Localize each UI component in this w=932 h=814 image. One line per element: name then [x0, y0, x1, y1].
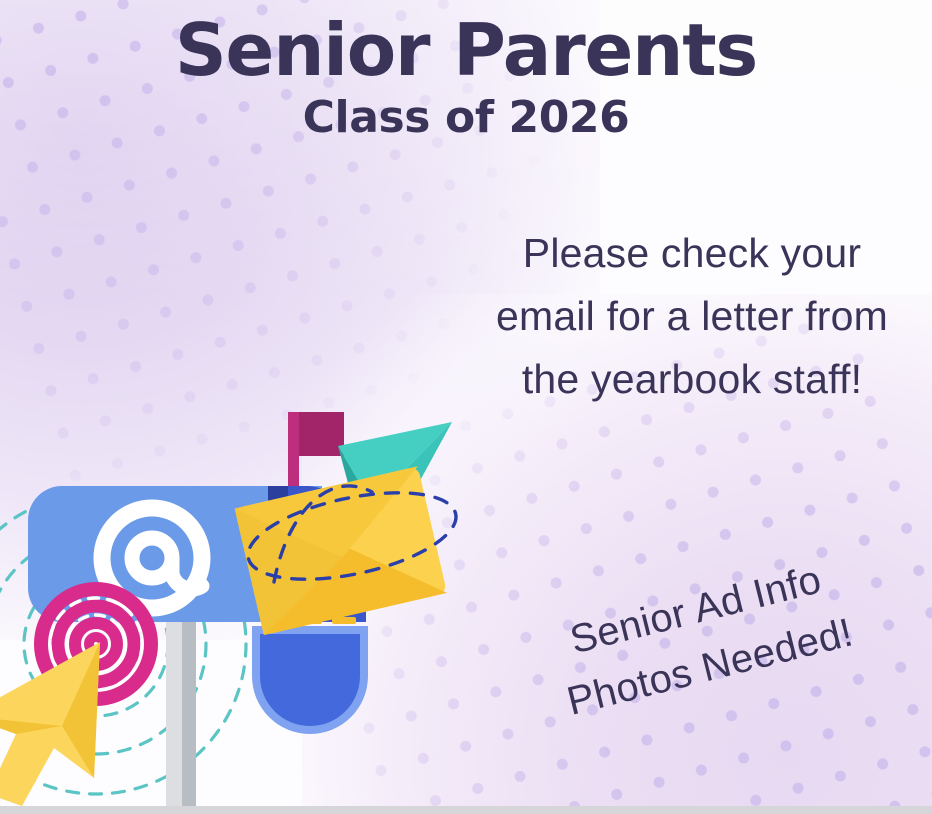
headline-block: Senior Parents Class of 2026 [0, 14, 932, 140]
page-title: Senior Parents [0, 14, 932, 86]
bottom-strip [0, 806, 932, 814]
mailbox-illustration [0, 386, 480, 806]
poster-canvas: Senior Parents Class of 2026 Please chec… [0, 0, 932, 814]
mailbox-post-icon [166, 618, 196, 806]
body-message: Please check your email for a letter fro… [492, 222, 892, 411]
mailbox-door-icon [252, 626, 368, 734]
page-subtitle: Class of 2026 [0, 96, 932, 140]
